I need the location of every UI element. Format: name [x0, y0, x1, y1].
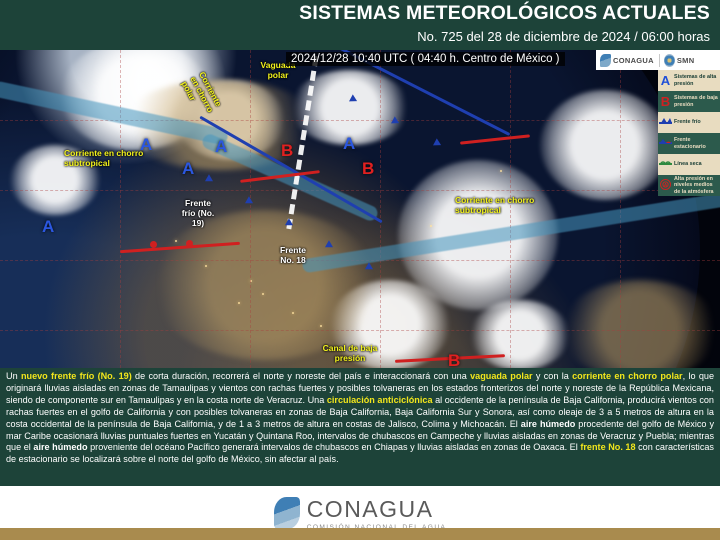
- map-timestamp: 2024/12/28 10:40 UTC ( 04:40 h. Centro d…: [286, 52, 565, 66]
- bulletin-panel: Un nuevo frente frío (No. 19) de corta d…: [0, 368, 720, 486]
- pressure-center-high-3: A: [182, 160, 194, 177]
- legend-label: Sistemas de baja presión: [674, 95, 720, 108]
- pressure-center-low-2: B: [362, 160, 374, 177]
- bold-term: aire húmedo: [33, 442, 87, 452]
- legend-label: Frente frío: [674, 119, 701, 126]
- longitude-gridline: [250, 50, 251, 368]
- conagua-eagle-icon: [274, 497, 300, 529]
- land-mass: [150, 210, 380, 360]
- annotation-frente-18: Frente No. 18: [272, 245, 314, 265]
- latitude-gridline: [0, 330, 720, 331]
- legend-label: Frente estacionario: [674, 137, 720, 150]
- legend-item-baja-presion: B Sistemas de baja presión: [658, 91, 720, 112]
- footer-accent-bar: [0, 528, 720, 540]
- legend-item-alta-niveles-medios: A Alta presión en niveles medios de la a…: [658, 175, 720, 196]
- stationary-front-icon: [659, 138, 672, 150]
- city-light: [430, 225, 432, 227]
- city-light: [175, 240, 177, 242]
- legend-item-frente-frio: Frente frío: [658, 112, 720, 133]
- pressure-center-low-3: B: [448, 352, 460, 368]
- pressure-center-low-1: B: [281, 142, 293, 159]
- highlighted-term: vaguada polar: [470, 371, 532, 381]
- highlighted-term: circulación anticiclónica: [327, 395, 433, 405]
- bulletin-text: Un nuevo frente frío (No. 19) de corta d…: [6, 371, 714, 466]
- page-footer: CONAGUA COMISIÓN NACIONAL DEL AGUA: [0, 486, 720, 540]
- city-light: [238, 302, 240, 304]
- mid-level-high-icon: A: [659, 179, 672, 193]
- annotation-chorro-subtropical-west: Corriente en chorro subtropical: [64, 148, 150, 168]
- footer-logo-text-block: CONAGUA COMISIÓN NACIONAL DEL AGUA: [307, 496, 447, 531]
- cold-front-icon: [659, 117, 672, 129]
- smn-emblem-icon: [664, 54, 675, 67]
- highlighted-term: nuevo frente frío (No. 19): [21, 371, 132, 381]
- map-legend: A Sistemas de alta presión B Sistemas de…: [658, 70, 720, 196]
- pressure-center-high-5: A: [343, 135, 355, 152]
- cloud-mass: [540, 90, 670, 200]
- stationary-front-bump: [186, 240, 193, 247]
- svg-text:A: A: [664, 183, 668, 189]
- bulletin-number: No. 725 del 28 de diciembre de 2024 / 06…: [417, 29, 710, 44]
- smn-logo-text: SMN: [677, 56, 695, 65]
- high-pressure-icon: A: [659, 74, 672, 87]
- stationary-front-bump: [150, 241, 157, 248]
- longitude-gridline: [120, 50, 121, 368]
- legend-item-frente-estacionario: Frente estacionario: [658, 133, 720, 154]
- city-light: [205, 265, 207, 267]
- latitude-gridline: [0, 190, 720, 191]
- conagua-eagle-icon: [600, 54, 611, 67]
- legend-item-alta-presion: A Sistemas de alta presión: [658, 70, 720, 91]
- low-pressure-icon: B: [659, 95, 672, 108]
- conagua-footer-logo: CONAGUA COMISIÓN NACIONAL DEL AGUA: [274, 496, 447, 531]
- legend-label: Alta presión en niveles medios de la atm…: [674, 176, 720, 196]
- annotation-canal-baja-presion: Canal de baja presión: [322, 343, 378, 363]
- city-light: [500, 170, 502, 172]
- longitude-gridline: [380, 50, 381, 368]
- highlighted-term: corriente en chorro polar: [572, 371, 683, 381]
- page-title: SISTEMAS METEOROLÓGICOS ACTUALES: [299, 2, 710, 25]
- pressure-center-high-1: A: [42, 218, 54, 235]
- annotation-frente-frio-19: Frente frío (No. 19): [178, 198, 218, 229]
- annotation-chorro-subtropical-east: Corriente en chorro subtropical: [455, 195, 541, 215]
- conagua-logo: CONAGUA: [600, 54, 660, 67]
- highlighted-term: frente No. 18: [580, 442, 635, 452]
- city-light: [320, 325, 322, 327]
- satellite-map[interactable]: A A A A A B B B Vaguada polar Corriente …: [0, 50, 720, 368]
- smn-logo: SMN: [664, 54, 695, 67]
- legend-label: Sistemas de alta presión: [674, 74, 720, 87]
- legend-item-linea-seca: Línea seca: [658, 154, 720, 175]
- footer-agency-name: CONAGUA: [307, 496, 447, 523]
- dry-line-icon: [659, 159, 672, 171]
- agency-logo-strip: CONAGUA SMN: [596, 50, 720, 70]
- pressure-center-high-4: A: [215, 138, 227, 155]
- conagua-logo-text: CONAGUA: [613, 56, 654, 65]
- legend-label: Línea seca: [674, 161, 702, 168]
- city-light: [262, 293, 264, 295]
- bold-term: aire húmedo: [521, 419, 576, 429]
- page-header: SISTEMAS METEOROLÓGICOS ACTUALES No. 725…: [0, 0, 720, 50]
- city-light: [292, 312, 294, 314]
